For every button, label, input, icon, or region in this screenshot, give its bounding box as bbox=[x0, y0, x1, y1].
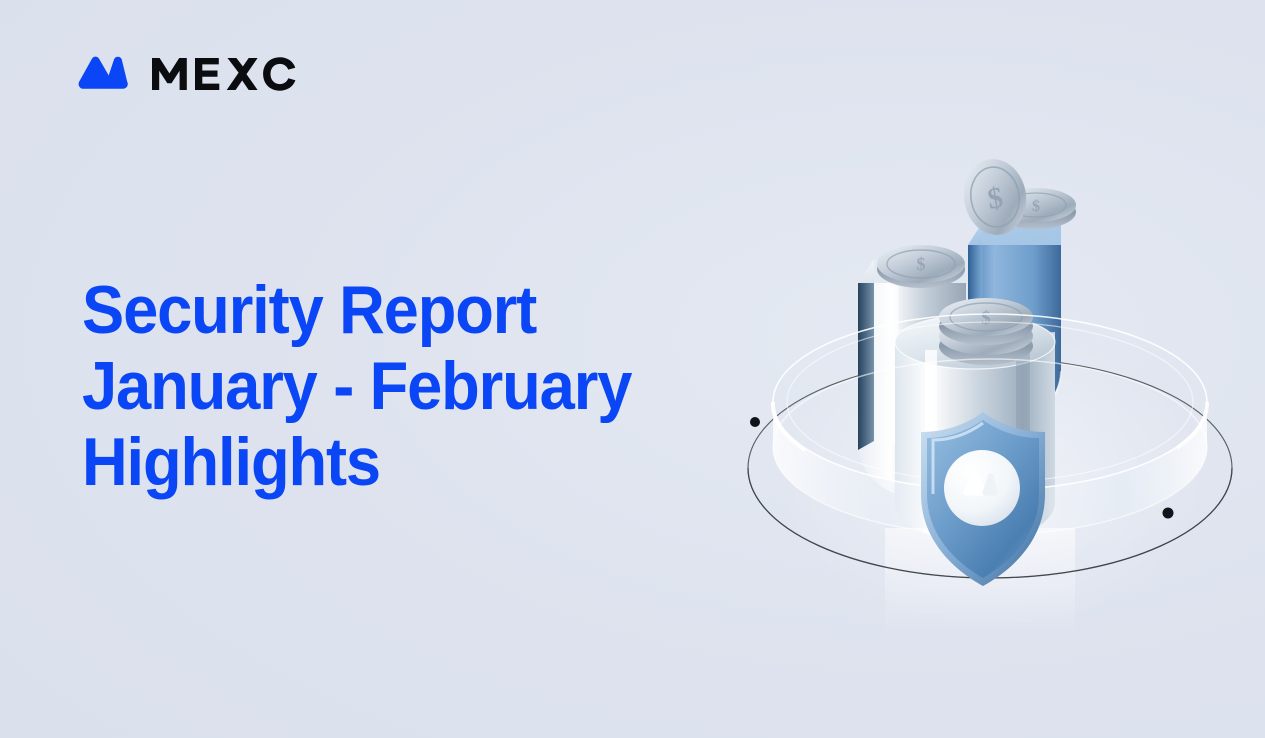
coin-stack-center: $ bbox=[939, 298, 1033, 365]
security-report-3d-illustration: $ $ $ $ bbox=[735, 150, 1245, 600]
orbit-dot-right bbox=[1163, 508, 1174, 519]
headline-line-2: January - February bbox=[82, 348, 733, 424]
headline-line-1: Security Report bbox=[82, 272, 733, 348]
mexc-wordmark bbox=[150, 56, 298, 97]
security-report-banner: Security Report January - February Highl… bbox=[0, 0, 1265, 738]
svg-text:$: $ bbox=[1032, 198, 1040, 215]
coin-stack-left: $ bbox=[877, 245, 965, 288]
brand-logo[interactable] bbox=[78, 55, 298, 98]
mexc-mountain-logo-icon bbox=[78, 55, 134, 98]
coin-dollar-symbol: $ bbox=[917, 254, 926, 274]
page-title: Security Report January - February Highl… bbox=[82, 272, 782, 500]
headline-line-3: Highlights bbox=[82, 424, 733, 500]
orbit-dot-left bbox=[750, 417, 760, 427]
svg-text:$: $ bbox=[981, 308, 991, 329]
